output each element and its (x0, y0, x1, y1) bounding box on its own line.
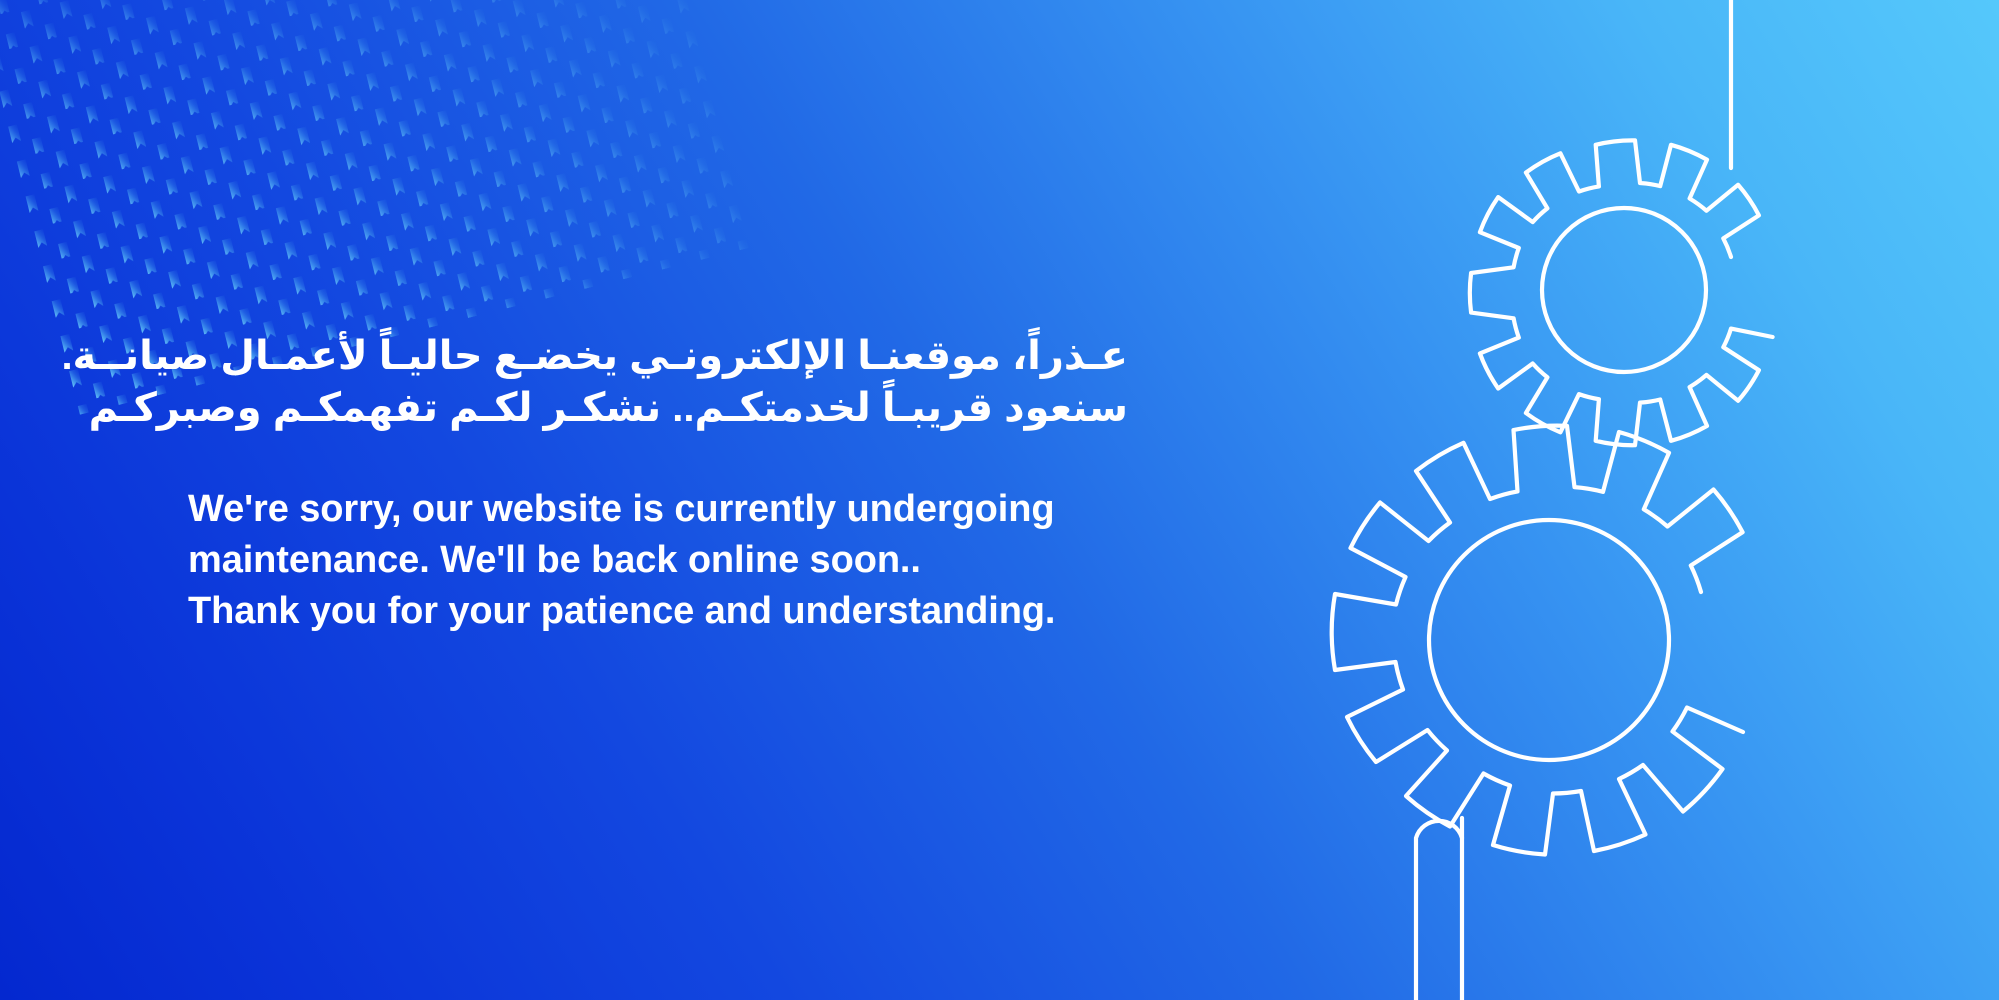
maintenance-page: عـذراً، موقعنـا الإلكترونـي يخضـع حاليـا… (0, 0, 1999, 1000)
arabic-message: عـذراً، موقعنـا الإلكترونـي يخضـع حاليـا… (188, 330, 1128, 434)
maintenance-message-block: عـذراً، موقعنـا الإلكترونـي يخضـع حاليـا… (188, 330, 1188, 637)
english-line-3: Thank you for your patience and understa… (188, 586, 1188, 637)
english-message: We're sorry, our website is currently un… (188, 484, 1188, 637)
english-line-2: maintenance. We'll be back online soon.. (188, 535, 1188, 586)
arabic-line-2: سنعود قريبـاً لخدمتكـم.. نشكـر لكـم تفهم… (188, 382, 1128, 434)
gears-decoration (1119, 0, 1999, 1000)
arabic-line-1: عـذراً، موقعنـا الإلكترونـي يخضـع حاليـا… (188, 330, 1128, 382)
english-line-1: We're sorry, our website is currently un… (188, 484, 1188, 535)
